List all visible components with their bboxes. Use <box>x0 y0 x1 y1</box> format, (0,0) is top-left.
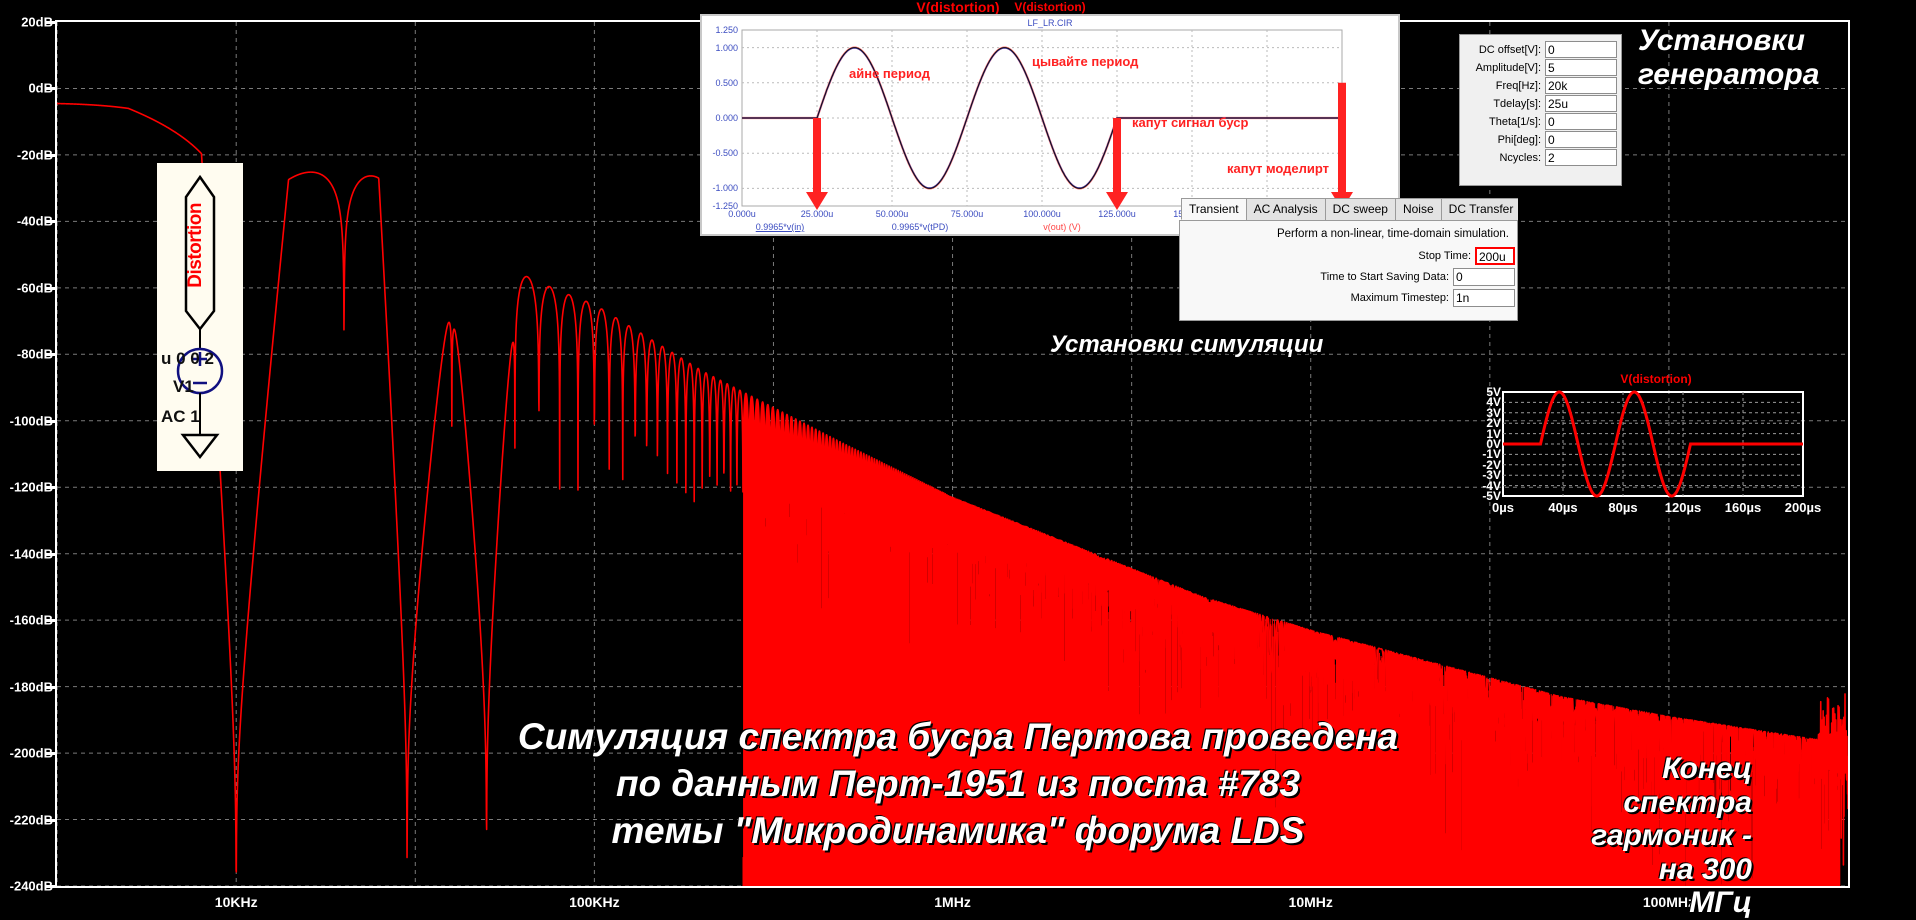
generator-heading: Установки генератора <box>1638 24 1819 91</box>
x-axis-tick-label: 100KHz <box>569 894 620 910</box>
y-axis-tick <box>45 752 57 755</box>
scope-x-tick-label: 120µs <box>1665 500 1701 515</box>
y-axis-tick <box>45 154 57 157</box>
y-axis-tick <box>45 553 57 556</box>
x-axis-tick-label: 10KHz <box>215 894 258 910</box>
y-axis-tick <box>45 819 57 822</box>
generator-field-row: Theta[1/s]:0 <box>1464 113 1617 130</box>
transient-y-tick-label: -0.500 <box>704 148 738 158</box>
scope-svg <box>1477 388 1835 503</box>
transient-y-tick-label: 0.500 <box>704 78 738 88</box>
generator-field-input[interactable]: 20k <box>1545 77 1617 94</box>
y-axis-tick <box>45 21 57 24</box>
generator-field-label: Ncycles: <box>1469 152 1545 164</box>
transient-x-tick-label: 125.000u <box>1098 209 1136 219</box>
scope-x-tick-label: 160µs <box>1725 500 1761 515</box>
generator-field-row: Tdelay[s]:25u <box>1464 95 1617 112</box>
circuit-ref-label: V1 <box>173 377 194 397</box>
sim-field-input[interactable]: 0 <box>1453 268 1515 286</box>
net-label-distortion: Distortion <box>185 203 207 288</box>
x-axis-tick-label: 1MHz <box>934 894 971 910</box>
generator-field-label: DC offset[V]: <box>1469 44 1545 56</box>
ltspice-screenshot: V(distortion) 20dB0dB-20dB-40dB-60dB-80d… <box>0 0 1916 917</box>
scope-x-tick-label: 80µs <box>1608 500 1637 515</box>
scope-x-tick-label: 40µs <box>1548 500 1577 515</box>
caption-line-1: Симуляция спектра бусра Пертова проведен… <box>518 716 1398 757</box>
sim-field-row: Maximum Timestep:1n <box>1184 289 1515 307</box>
sim-tab-dc-sweep[interactable]: DC sweep <box>1325 198 1396 220</box>
y-axis-tick <box>45 486 57 489</box>
y-axis-tick <box>45 686 57 689</box>
circuit-value-label: AC 1 <box>161 407 200 427</box>
scope-x-tick-label: 200µs <box>1785 500 1821 515</box>
generator-field-input[interactable]: 25u <box>1545 95 1617 112</box>
x-axis-tick-label: 10MHz <box>1289 894 1333 910</box>
generator-field-row: DC offset[V]:0 <box>1464 41 1617 58</box>
transient-y-tick-label: -1.000 <box>704 183 738 193</box>
sim-tab-transient[interactable]: Transient <box>1181 198 1247 220</box>
end-of-spectrum-note: Конец спектра гармоник - на 300 МГц <box>1588 752 1752 920</box>
y-axis-tick <box>45 885 57 888</box>
sim-tabbar[interactable]: TransientAC AnalysisDC sweepNoiseDC Tran… <box>1181 198 1518 220</box>
y-axis-tick <box>45 287 57 290</box>
scope-x-tick-label: 0µs <box>1492 500 1514 515</box>
generator-field-label: Freq[Hz]: <box>1469 80 1545 92</box>
transient-x-tick-label: 100.000u <box>1023 209 1061 219</box>
transient-annotation: цывайте период <box>1032 54 1138 69</box>
transient-legend-item[interactable]: v(out) (V) <box>1043 222 1081 232</box>
sim-tab-ac-analysis[interactable]: AC Analysis <box>1246 198 1326 220</box>
sim-field-input[interactable]: 1n <box>1453 289 1515 307</box>
transient-inset-titlebar: V(distortion) <box>700 0 1400 14</box>
generator-field-input[interactable]: 2 <box>1545 149 1617 166</box>
scope-title: V(distortion) <box>1477 372 1835 386</box>
generator-field-label: Theta[1/s]: <box>1469 116 1545 128</box>
sim-description: Perform a non-linear, time-domain simula… <box>1277 228 1509 240</box>
generator-field-row: Phi[deg]:0 <box>1464 131 1617 148</box>
sim-tab-body: Perform a non-linear, time-domain simula… <box>1179 220 1518 321</box>
sim-field-label: Time to Start Saving Data: <box>1320 271 1453 283</box>
y-axis-tick <box>45 87 57 90</box>
transient-inset-title: V(distortion) <box>700 0 1400 14</box>
transient-y-tick-label: 1.000 <box>704 43 738 53</box>
transient-annotation: айне период <box>849 66 930 81</box>
y-axis-labels: 20dB0dB-20dB-40dB-60dB-80dB-100dB-120dB-… <box>0 0 55 917</box>
y-axis-tick <box>45 420 57 423</box>
transient-y-tick-label: 1.250 <box>704 25 738 35</box>
transient-x-tick-label: 50.000u <box>876 209 909 219</box>
generator-field-row: Amplitude[V]:5 <box>1464 59 1617 76</box>
sim-heading: Установки симуляции <box>1050 332 1323 359</box>
y-axis-tick <box>45 353 57 356</box>
generator-field-row: Freq[Hz]:20k <box>1464 77 1617 94</box>
sim-field-label: Maximum Timestep: <box>1351 292 1453 304</box>
sim-tab-dc-transfer[interactable]: DC Transfer <box>1441 198 1518 220</box>
transient-y-tick-label: 0.000 <box>704 113 738 123</box>
generator-field-input[interactable]: 0 <box>1545 113 1617 130</box>
transient-x-tick-label: 25.000u <box>801 209 834 219</box>
generator-field-label: Amplitude[V]: <box>1469 62 1545 74</box>
simulation-settings-panel[interactable]: TransientAC AnalysisDC sweepNoiseDC Tran… <box>1179 196 1518 321</box>
generator-field-input[interactable]: 5 <box>1545 59 1617 76</box>
y-axis-tick <box>45 619 57 622</box>
generator-field-row: Ncycles:2 <box>1464 149 1617 166</box>
sim-field-row: Stop Time:200u <box>1184 247 1515 265</box>
generator-field-label: Tdelay[s]: <box>1469 98 1545 110</box>
sim-field-input[interactable]: 200u <box>1475 247 1515 265</box>
sim-field-row: Time to Start Saving Data:0 <box>1184 268 1515 286</box>
sim-tab-noise[interactable]: Noise <box>1395 198 1442 220</box>
transient-legend-item[interactable]: 0.9965*v(in) <box>756 222 805 232</box>
circuit-node-label: u 0 0 2 <box>161 349 214 369</box>
transient-legend-item[interactable]: 0.9965*v(tPD) <box>892 222 949 232</box>
transient-annotation: капут моделирт <box>1227 161 1329 176</box>
generator-field-input[interactable]: 0 <box>1545 41 1617 58</box>
y-axis-tick <box>45 220 57 223</box>
generator-field-input[interactable]: 0 <box>1545 131 1617 148</box>
transient-x-tick-label: 75.000u <box>951 209 984 219</box>
caption-line-2: по данным Перт-1951 из поста #783 <box>616 763 1300 804</box>
sim-field-label: Stop Time: <box>1418 250 1475 262</box>
caption-line-3: темы "Микродинамика" форума LDS <box>612 810 1305 851</box>
circuit-schematic-inset[interactable]: Distortion u 0 0 2 V1 AC 1 <box>157 163 243 471</box>
scope-inset[interactable]: V(distortion) 5V4V3V2V1V0V-1V-2V-3V-4V-5… <box>1477 388 1835 503</box>
generator-settings-panel[interactable]: DC offset[V]:0Amplitude[V]:5Freq[Hz]:20k… <box>1459 34 1622 186</box>
generator-field-label: Phi[deg]: <box>1469 134 1545 146</box>
transient-x-tick-label: 0.000u <box>728 209 756 219</box>
transient-annotation: капут сигнал буср <box>1132 115 1248 130</box>
